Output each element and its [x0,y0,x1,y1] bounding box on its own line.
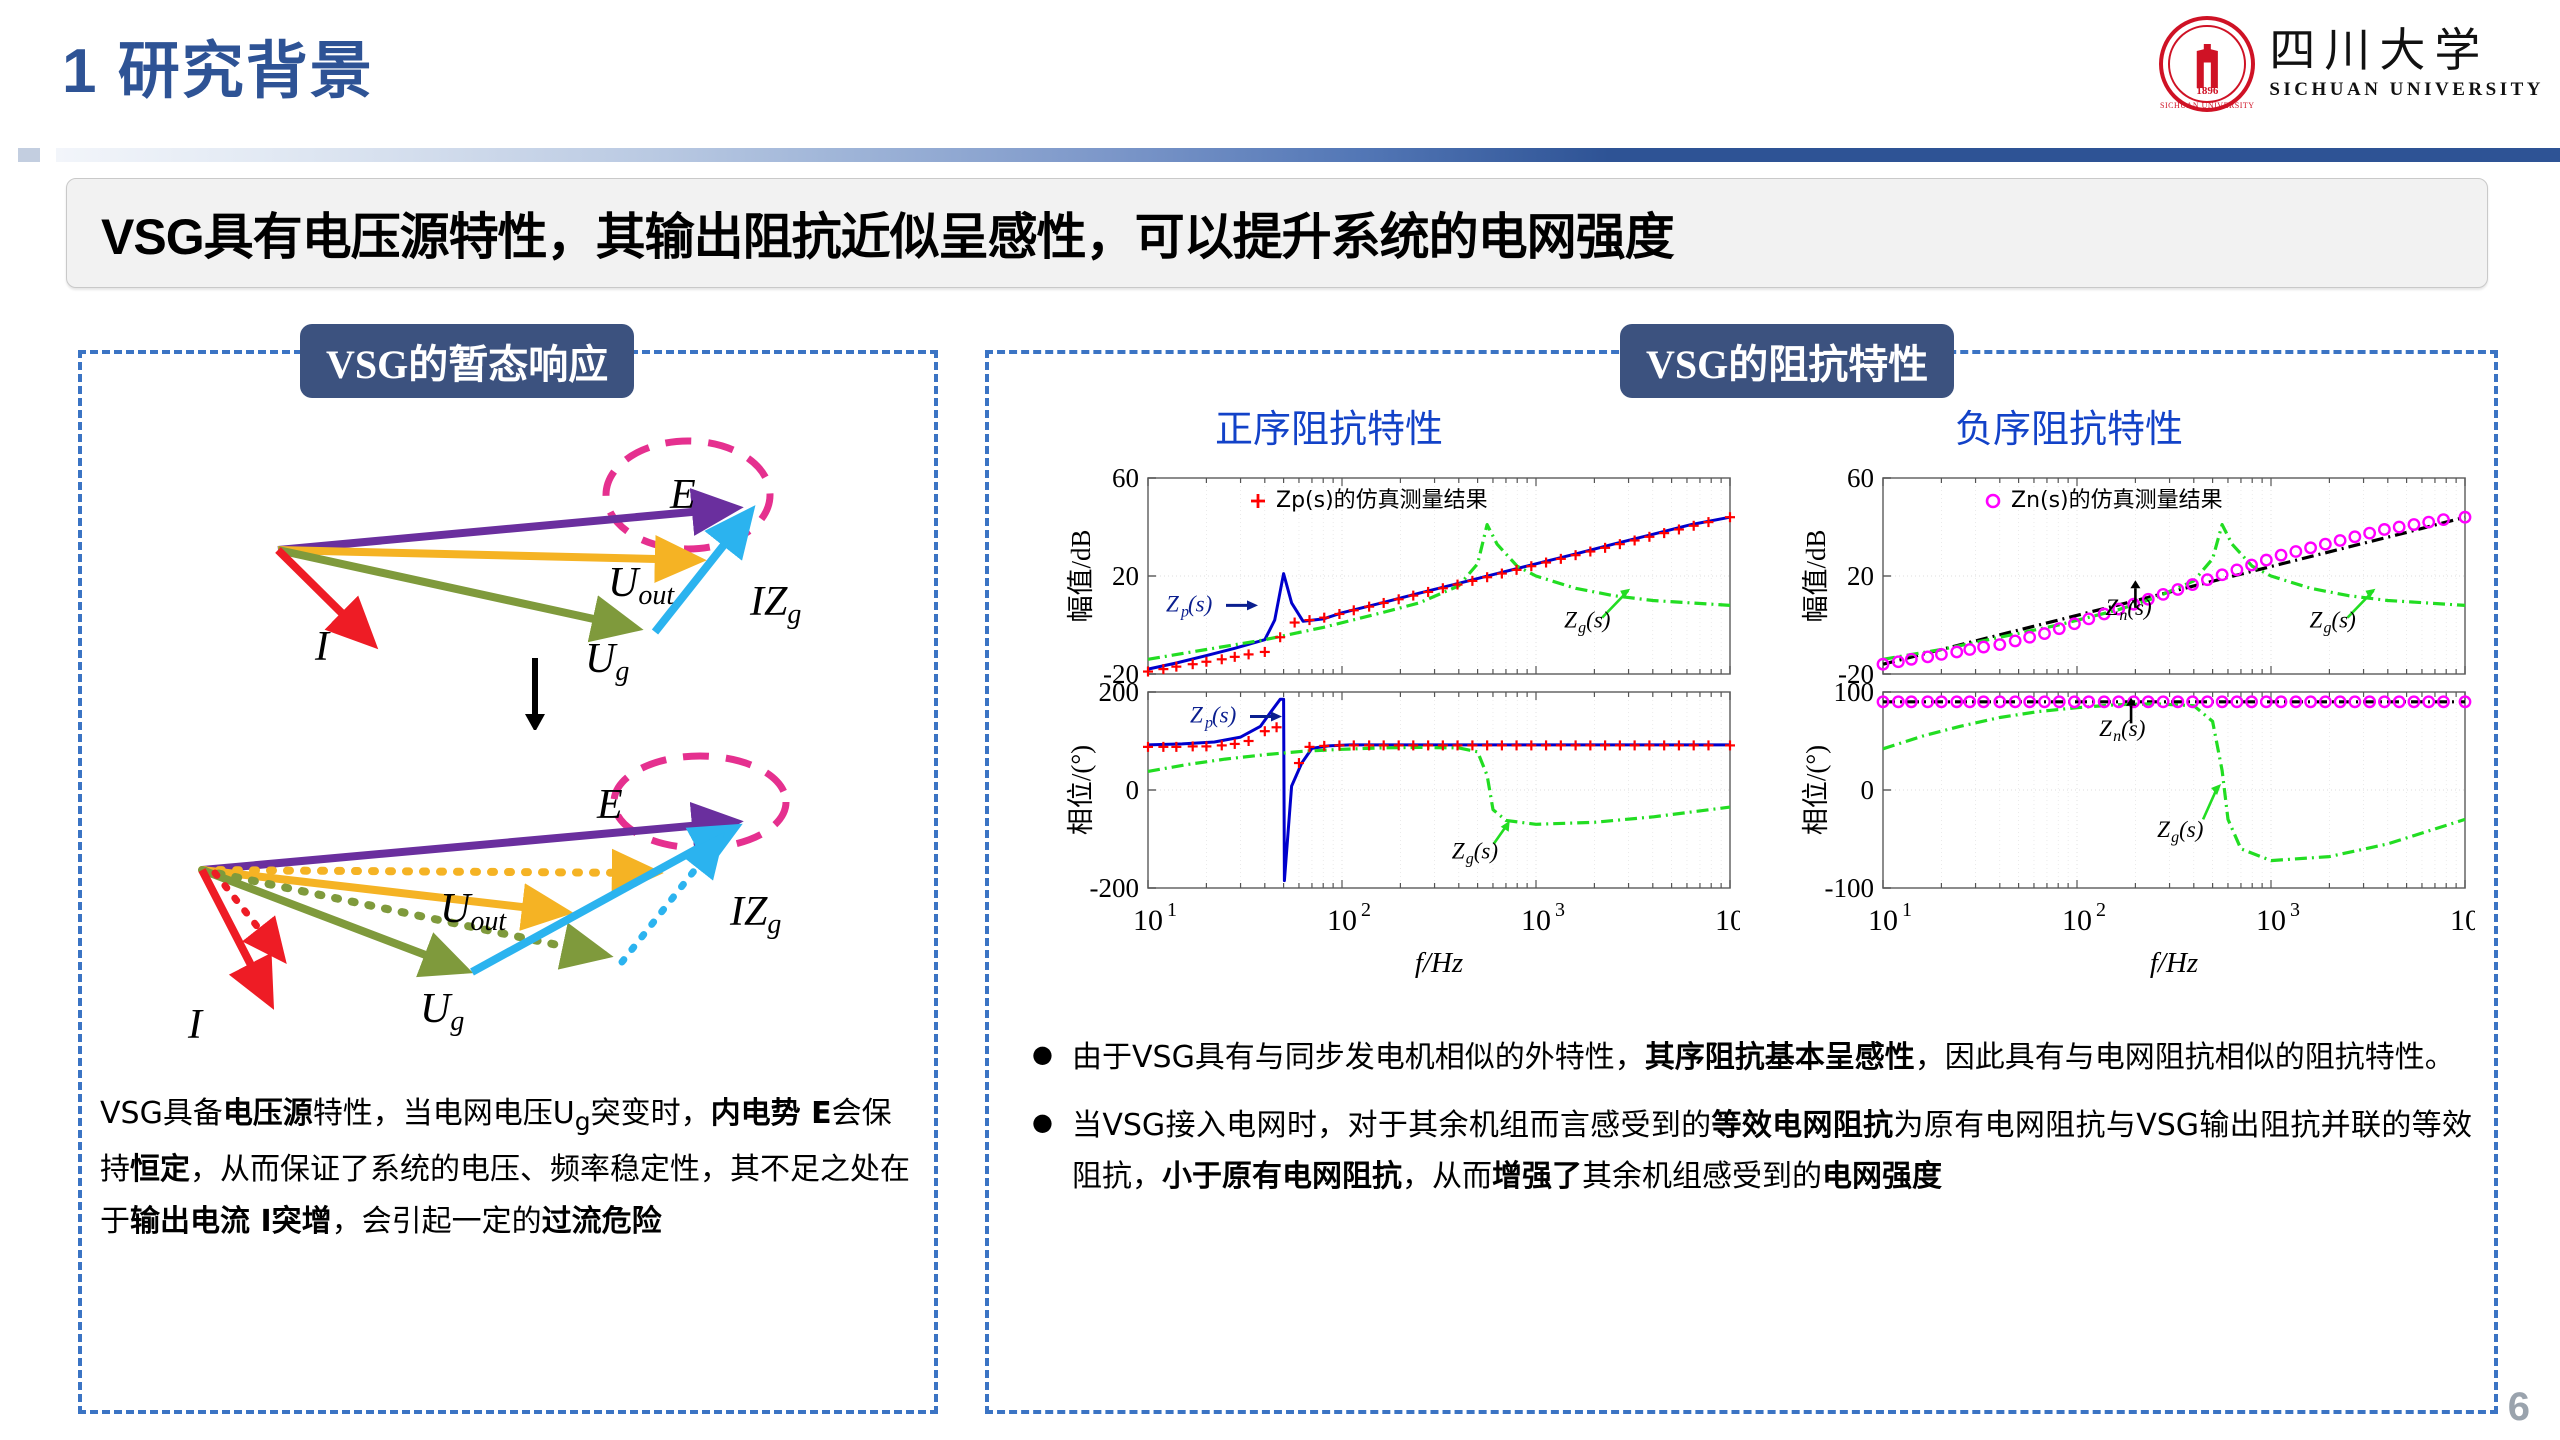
svg-text:10: 10 [2062,904,2092,937]
svg-text:(s): (s) [1586,607,1610,632]
phasor-IZg-2 [472,828,735,972]
bullet-text: 由于VSG具有与同步发电机相似的外特性，其序阻抗基本呈感性，因此具有与电网阻抗相… [1072,1032,2472,1084]
headline-banner: VSG具有电压源特性，其输出阻抗近似呈感性，可以提升系统的电网强度 [66,178,2488,288]
svg-text:0: 0 [1861,775,1875,805]
headline-text: VSG具有电压源特性，其输出阻抗近似呈感性，可以提升系统的电网强度 [101,197,1674,269]
right-panel-bullets: ●由于VSG具有与同步发电机相似的外特性，其序阻抗基本呈感性，因此具有与电网阻抗… [1032,1032,2472,1219]
svg-text:1: 1 [1167,899,1177,921]
phasor-label-IZg-2: IZg [729,889,781,940]
svg-text:10: 10 [2450,904,2475,937]
svg-text:-200: -200 [1090,873,1140,903]
phasor-label-I-2: I [187,1002,204,1048]
phasor-label-Ug-2: Ug [420,986,464,1037]
svg-text:2: 2 [1361,899,1371,921]
chart-title-positive: 正序阻抗特性 [1215,398,1443,453]
left-panel-caption: VSG具备电压源特性，当电网电压Ug突变时，内电势 E会保持恒定，从而保证了系统… [100,1088,910,1249]
svg-text:2: 2 [2096,899,2106,921]
header-rule [56,148,2560,162]
left-panel-badge: VSG的暂态响应 [300,324,634,398]
svg-text:100: 100 [1834,677,1875,707]
phasor-diagram-steady: E Uout Ug IZg I [110,400,900,730]
svg-text:200: 200 [1099,677,1140,707]
svg-text:(s): (s) [1474,839,1498,864]
phasor-diagram-transient: E Uout Ug IZg I [110,740,900,1070]
svg-text:g: g [2171,829,2179,846]
phasor-E-2 [202,822,735,870]
svg-text:Z: Z [1190,703,1203,728]
seal-year: 1896 [2159,85,2255,97]
svg-text:3: 3 [1555,899,1565,921]
phasor-label-Uout: Uout [608,560,675,611]
svg-text:n: n [2113,728,2121,745]
bullet-item: ●当VSG接入电网时，对于其余机组而言感受到的等效电网阻抗为原有电网阻抗与VSG… [1032,1100,2472,1203]
bullet-dot: ● [1032,1032,1072,1084]
svg-text:(s): (s) [2179,817,2203,842]
y-axis-label: 幅值/dB [1801,529,1831,622]
phasor-Ug [278,550,635,628]
x-axis-label: f/Hz [2150,947,2198,979]
svg-text:(s): (s) [2127,595,2151,620]
y-axis-label: 相位/(°) [1801,745,1831,835]
page-number: 6 [2508,1385,2530,1430]
seal-arc-text: SICHUAN UNIVERSITY [2159,101,2255,110]
bode-chart-negative: -202060幅值/dBZn(s)Zg(s)Zn(s)的仿真测量结果-10001… [1775,460,2475,1000]
svg-text:g: g [2324,619,2332,636]
phasor-IZg-dashed [622,838,720,962]
svg-text:3: 3 [2290,899,2300,921]
svg-text:10: 10 [1868,904,1898,937]
bode-plot-positive-svg: -202060幅值/dBZp(s)Zg(s)Zp(s)的仿真测量结果-20002… [1040,460,1740,1000]
phasor-label-E-2: E [596,782,623,828]
legend-label: Zp(s)的仿真测量结果 [1276,488,1488,513]
svg-text:Z: Z [1166,591,1179,616]
svg-text:1: 1 [1902,899,1912,921]
svg-text:Z: Z [2310,607,2323,632]
bode-plot-negative-svg: -202060幅值/dBZn(s)Zg(s)Zn(s)的仿真测量结果-10001… [1775,460,2475,1000]
bullet-text: 当VSG接入电网时，对于其余机组而言感受到的等效电网阻抗为原有电网阻抗与VSG输… [1072,1100,2472,1203]
svg-text:10: 10 [1521,904,1551,937]
right-panel-badge: VSG的阻抗特性 [1620,324,1954,398]
svg-text:Z: Z [1564,607,1577,632]
bullet-dot: ● [1032,1100,1072,1203]
bode-chart-positive: -202060幅值/dBZp(s)Zg(s)Zp(s)的仿真测量结果-20002… [1040,460,1740,1000]
svg-text:(s): (s) [2121,716,2145,741]
phasor-label-Uout-2: Uout [440,886,507,937]
svg-text:60: 60 [1112,463,1139,493]
phasor-label-IZg: IZg [749,579,801,630]
university-seal-icon: 1896 SICHUAN UNIVERSITY [2159,16,2255,112]
logo-chinese-name: 四川大学 [2269,27,2544,73]
svg-text:(s): (s) [2332,607,2356,632]
phasor-label-E: E [669,472,696,518]
phasor-Uout [278,550,698,560]
logo-english-name: SICHUAN UNIVERSITY [2269,79,2544,101]
svg-text:20: 20 [1112,561,1139,591]
svg-text:g: g [1578,619,1586,636]
y-axis-label: 幅值/dB [1066,529,1096,622]
svg-text:Z: Z [2157,817,2170,842]
svg-text:n: n [2119,607,2127,624]
svg-text:10: 10 [2256,904,2286,937]
y-axis-label: 相位/(°) [1066,745,1096,835]
slide-root: 1 研究背景 1896 SICHUAN UNIVERSITY 四川大学 SICH… [0,0,2560,1440]
bullet-item: ●由于VSG具有与同步发电机相似的外特性，其序阻抗基本呈感性，因此具有与电网阻抗… [1032,1032,2472,1084]
phasor-label-I: I [314,624,331,670]
page-title: 1 研究背景 [62,20,374,110]
svg-text:10: 10 [1133,904,1163,937]
svg-text:20: 20 [1847,561,1874,591]
phasor-Uout-dashed [202,870,655,873]
svg-text:10: 10 [1327,904,1357,937]
phasor-label-Ug: Ug [585,636,629,687]
legend-label: Zn(s)的仿真测量结果 [2011,488,2223,513]
university-logo: 1896 SICHUAN UNIVERSITY 四川大学 SICHUAN UNI… [2159,8,2544,120]
svg-text:(s): (s) [1212,703,1236,728]
x-axis-label: f/Hz [1415,947,1463,979]
svg-text:Z: Z [1452,839,1465,864]
svg-text:-100: -100 [1825,873,1875,903]
svg-text:Z: Z [2105,595,2118,620]
phasor-IZg [655,512,750,632]
chart-title-negative: 负序阻抗特性 [1955,398,2183,453]
svg-text:(s): (s) [1188,591,1212,616]
svg-text:0: 0 [1126,775,1140,805]
svg-text:60: 60 [1847,463,1874,493]
svg-text:g: g [1466,851,1474,868]
svg-text:10: 10 [1715,904,1740,937]
svg-text:Z: Z [2099,716,2112,741]
header-rule-dot [18,148,40,162]
